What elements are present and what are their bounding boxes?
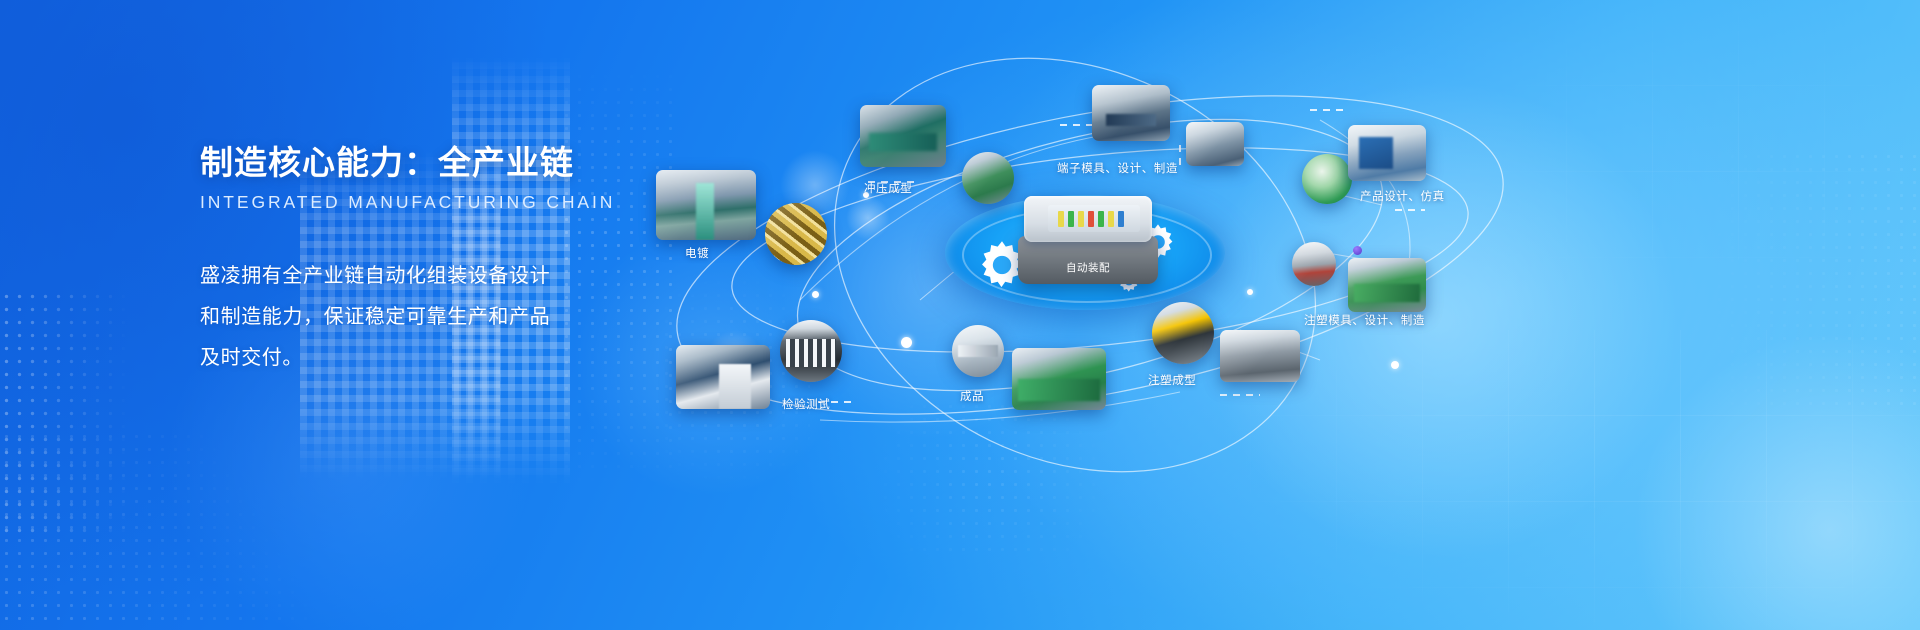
stamping-label: 冲压成型 xyxy=(864,180,912,196)
thumb-shine xyxy=(860,105,946,167)
orbit-dot-5 xyxy=(1391,361,1399,369)
assembly-line-thumbnail[interactable] xyxy=(1012,348,1106,410)
injection-mold-thumbnail[interactable] xyxy=(1348,258,1426,312)
inspection-label: 检验测试 xyxy=(782,396,830,412)
thumb-shine xyxy=(1092,85,1170,141)
thumb-shine xyxy=(1220,330,1300,382)
machine-top xyxy=(1024,196,1152,242)
texture-dots-left-low xyxy=(0,430,360,630)
terminal-mold-label: 端子模具、设计、制造 xyxy=(1057,160,1178,176)
product-design-thumbnail[interactable] xyxy=(1348,125,1426,181)
stamping-thumbnail[interactable] xyxy=(860,105,946,167)
chip-icon xyxy=(1118,211,1124,227)
terminal-mold-thumbnail[interactable] xyxy=(1092,85,1170,141)
pcb-thumbnail[interactable] xyxy=(962,152,1014,204)
chip-icon xyxy=(1068,211,1074,227)
chip-icon xyxy=(1078,211,1084,227)
chip-icon xyxy=(1088,211,1094,227)
page-title: 制造核心能力：全产业链 xyxy=(200,142,620,183)
chip-icon xyxy=(1108,211,1114,227)
chip-icon xyxy=(1098,211,1104,227)
thumb-shine xyxy=(1292,242,1336,286)
finished-goods-label: 成品 xyxy=(960,388,984,404)
product-design-label: 产品设计、仿真 xyxy=(1360,188,1445,204)
thumb-shine xyxy=(952,325,1004,377)
orbit-dot-2 xyxy=(901,337,912,348)
manufacturing-chain-diagram: 自动装配 电镀 冲压成型 xyxy=(620,0,1920,630)
plating-label: 电镀 xyxy=(685,245,709,261)
injection-forming-label: 注塑成型 xyxy=(1148,372,1196,388)
thumb-shine xyxy=(1012,348,1106,410)
thumb-shine xyxy=(1152,302,1214,364)
chip-icon xyxy=(1058,211,1064,227)
orbit-dot-1 xyxy=(812,291,819,298)
orbit-lines xyxy=(620,0,1920,630)
plating-thumbnail[interactable] xyxy=(656,170,756,240)
thumb-shine xyxy=(780,320,842,382)
orbit-dot-4 xyxy=(1247,289,1253,295)
thumb-shine xyxy=(1348,125,1426,181)
probe-thumbnail[interactable] xyxy=(780,320,842,382)
thumb-shine xyxy=(765,203,827,265)
center-label: 自动装配 xyxy=(1018,260,1158,275)
thumb-shine xyxy=(1302,154,1352,204)
coil-thumbnail[interactable] xyxy=(765,203,827,265)
injection-mold-thumbnail-circ[interactable] xyxy=(1292,242,1336,286)
green-3d-thumbnail[interactable] xyxy=(1302,154,1352,204)
banner-root: 制造核心能力：全产业链 INTEGRATED MANUFACTURING CHA… xyxy=(0,0,1920,630)
thumb-shine xyxy=(962,152,1014,204)
mold-block-thumbnail[interactable] xyxy=(1220,330,1300,382)
injection-mold-label: 注塑模具、设计、制造 xyxy=(1304,312,1425,328)
inspection-thumbnail[interactable] xyxy=(676,345,770,409)
page-subtitle: INTEGRATED MANUFACTURING CHAIN xyxy=(200,192,620,213)
thumb-shine xyxy=(1348,258,1426,312)
machine-window xyxy=(1048,205,1140,232)
auto-assembly-machine: 自动装配 xyxy=(1018,196,1158,284)
thumb-shine xyxy=(676,345,770,409)
hero-text-block: 制造核心能力：全产业链 INTEGRATED MANUFACTURING CHA… xyxy=(200,142,620,379)
thumb-shine xyxy=(1186,122,1244,166)
terminal-mold-thumbnail-2[interactable] xyxy=(1186,122,1244,166)
texture-dots-left xyxy=(0,290,130,540)
injection-forming-thumbnail[interactable] xyxy=(1152,302,1214,364)
finished-goods-thumbnail[interactable] xyxy=(952,325,1004,377)
orbit-dot-purple xyxy=(1353,246,1362,255)
hero-paragraph: 盛凌拥有全产业链自动化组装设备设计和制造能力，保证稳定可靠生产和产品及时交付。 xyxy=(200,256,560,379)
thumb-shine xyxy=(656,170,756,240)
